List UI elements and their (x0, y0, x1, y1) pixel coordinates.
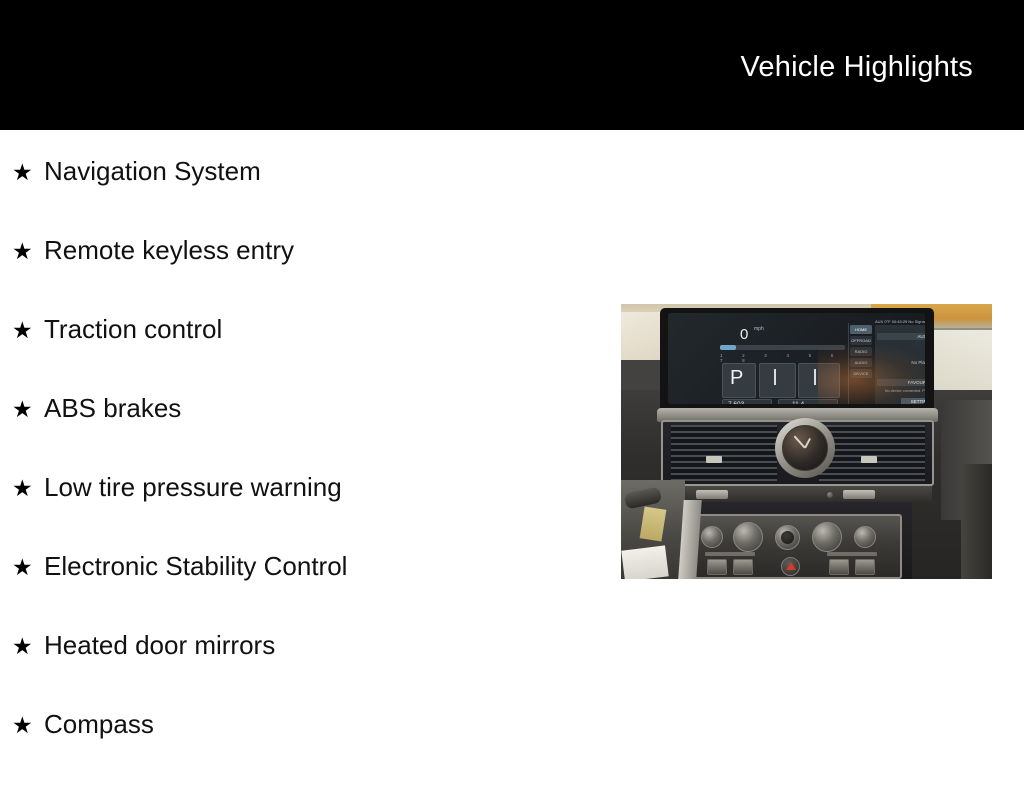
star-bullet-icon: ★ (12, 477, 44, 500)
star-bullet-icon: ★ (12, 319, 44, 342)
list-item: ★ Electronic Stability Control (0, 553, 600, 632)
list-item: ★ Low tire pressure warning (0, 474, 600, 553)
feature-label: Navigation System (44, 158, 261, 184)
trip-value: 7,603 (728, 401, 744, 404)
feature-label: Compass (44, 711, 154, 737)
vent-tab-left[interactable] (706, 456, 722, 463)
climate-knob-1[interactable] (701, 526, 723, 548)
star-bullet-icon: ★ (12, 635, 44, 658)
tachometer-fill (720, 345, 736, 350)
list-item: ★ Traction control (0, 316, 600, 395)
usb-jack-icon (827, 492, 833, 498)
window-switch-2[interactable] (733, 559, 753, 575)
list-item: ★ Navigation System (0, 130, 600, 237)
trim-switch-left[interactable] (696, 490, 728, 499)
list-item: ★ ABS brakes (0, 395, 600, 474)
fuel-needle-icon (774, 369, 776, 385)
vent-slats-left (671, 425, 777, 481)
star-bullet-icon: ★ (12, 714, 44, 737)
vehicle-highlights-list: ★ Navigation System ★ Remote keyless ent… (0, 130, 600, 790)
header-banner: Vehicle Highlights (0, 0, 1024, 130)
climate-knob-4[interactable] (812, 522, 842, 552)
screen-status-bar: AUX 0°F 00:45:29 No Signal (875, 319, 925, 325)
hazard-triangle-icon (786, 562, 796, 570)
screen-source-title: AUX (877, 333, 925, 340)
page-title: Vehicle Highlights (740, 50, 973, 84)
trim-switch-right[interactable] (843, 490, 875, 499)
star-bullet-icon: ★ (12, 240, 44, 263)
star-bullet-icon: ★ (12, 398, 44, 421)
window-switch-4[interactable] (855, 559, 875, 575)
window-switch-3[interactable] (829, 559, 849, 575)
speed-value: 0 (740, 327, 748, 342)
list-item: ★ Remote keyless entry (0, 237, 600, 316)
climate-knob-2[interactable] (733, 522, 763, 552)
menu-item-home[interactable]: HOME (850, 325, 872, 334)
vent-tab-right[interactable] (861, 456, 877, 463)
vent-slats-right (819, 425, 925, 481)
paperwork (621, 545, 668, 579)
list-item: ★ Heated door mirrors (0, 632, 600, 711)
feature-label: Low tire pressure warning (44, 474, 342, 500)
economy-value: 11.4 (792, 401, 804, 404)
gear-indicator: P (730, 368, 743, 388)
star-bullet-icon: ★ (12, 161, 44, 184)
list-item: ★ Compass (0, 711, 600, 790)
star-bullet-icon: ★ (12, 556, 44, 579)
climate-knob-5[interactable] (854, 526, 876, 548)
temp-needle-icon (814, 369, 816, 385)
feature-label: Heated door mirrors (44, 632, 275, 658)
gauge-tile-fuel (759, 363, 796, 398)
switch-label-left (705, 552, 755, 556)
right-door-panel (961, 464, 992, 579)
climate-knob-3-center[interactable] (781, 531, 794, 544)
vehicle-interior-photo: 0 mph 1 2 3 4 5 6 7 8 P 7,603 11.4 HOME … (621, 304, 992, 579)
feature-label: Electronic Stability Control (44, 553, 347, 579)
screen-glare (818, 343, 925, 404)
switch-label-right (827, 552, 877, 556)
speed-unit: mph (754, 326, 764, 332)
window-switch-1[interactable] (707, 559, 727, 575)
feature-label: Traction control (44, 316, 222, 342)
infotainment-screen[interactable]: 0 mph 1 2 3 4 5 6 7 8 P 7,603 11.4 HOME … (668, 313, 925, 404)
feature-label: Remote keyless entry (44, 237, 294, 263)
feature-label: ABS brakes (44, 395, 181, 421)
